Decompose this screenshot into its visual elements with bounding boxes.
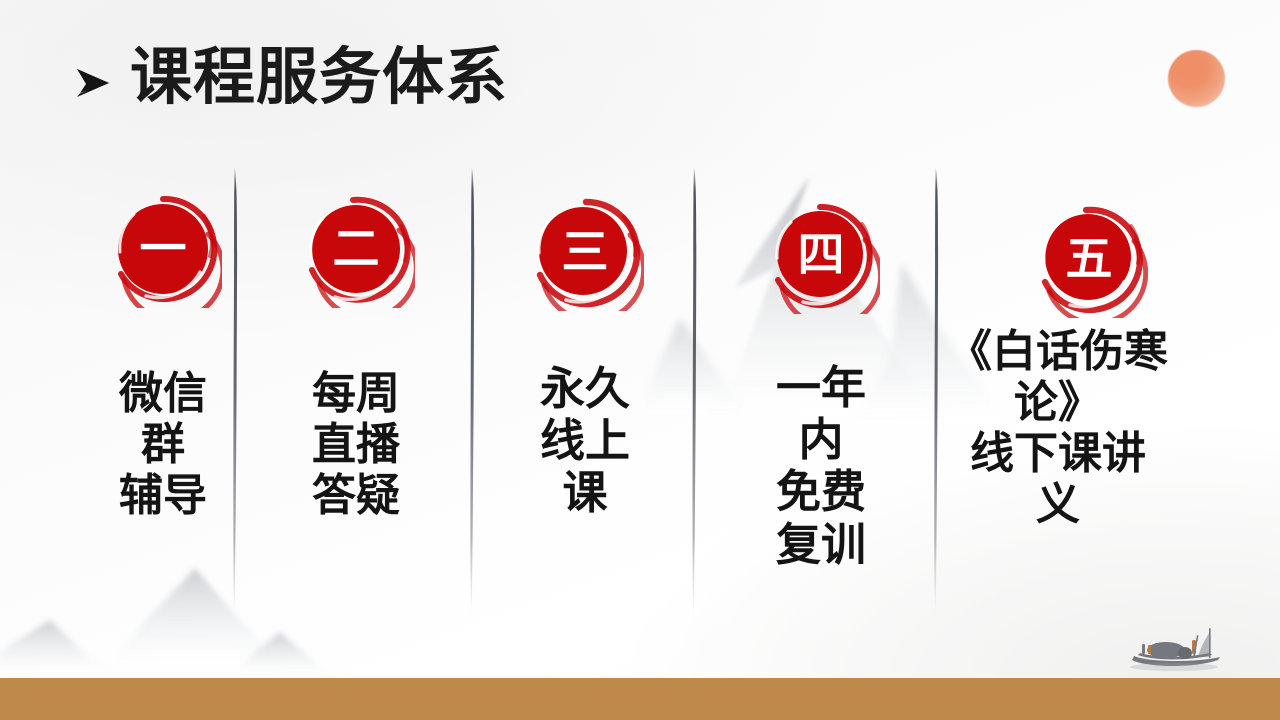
seal-number: 一 [140,226,187,273]
service-column-4-label: 一年内 免费复训 [757,362,885,571]
brush-divider-3 [686,168,702,620]
service-column-2-label: 每周直播 答疑 [295,368,417,521]
seal-number: 三 [562,229,609,276]
brush-divider-2 [464,168,480,620]
brush-divider-1 [227,168,243,620]
service-column-1-label: 微信群 辅导 [104,368,222,521]
seal-number: 五 [1066,236,1113,283]
ink-wash-boat-icon [1114,622,1234,678]
service-column-5-label: 《白话伤寒论》 线下课讲 义 [933,326,1183,530]
service-column-3[interactable]: 三 永久 线上课 [521,193,649,520]
page-title-text: 课程服务体系 [130,46,508,108]
service-column-3-label: 永久 线上课 [521,363,649,520]
arrow-right-triangle-icon [72,63,112,103]
seal-number: 二 [333,226,380,273]
brush-circle-seal-icon: 四 [762,196,880,314]
footer-bar [0,678,1280,720]
service-column-2[interactable]: 二 每周直播 答疑 [295,190,417,521]
ink-wash-mountain-bottom-icon [0,560,400,690]
seal-number: 四 [798,232,845,279]
watercolor-sun-icon [1168,50,1225,107]
page-title: 课程服务体系 [72,46,508,108]
service-column-5[interactable]: 五 《白话伤寒论》 线下课讲 义 [1026,200,1152,530]
brush-circle-seal-icon: 五 [1030,200,1148,318]
service-column-1[interactable]: 一 微信群 辅导 [104,190,222,521]
brush-circle-seal-icon: 三 [526,193,644,311]
slide-canvas: 课程服务体系 [0,0,1280,720]
brush-circle-seal-icon: 二 [297,190,415,308]
brush-circle-seal-icon: 一 [104,190,222,308]
service-column-4[interactable]: 四 一年内 免费复训 [757,196,885,571]
